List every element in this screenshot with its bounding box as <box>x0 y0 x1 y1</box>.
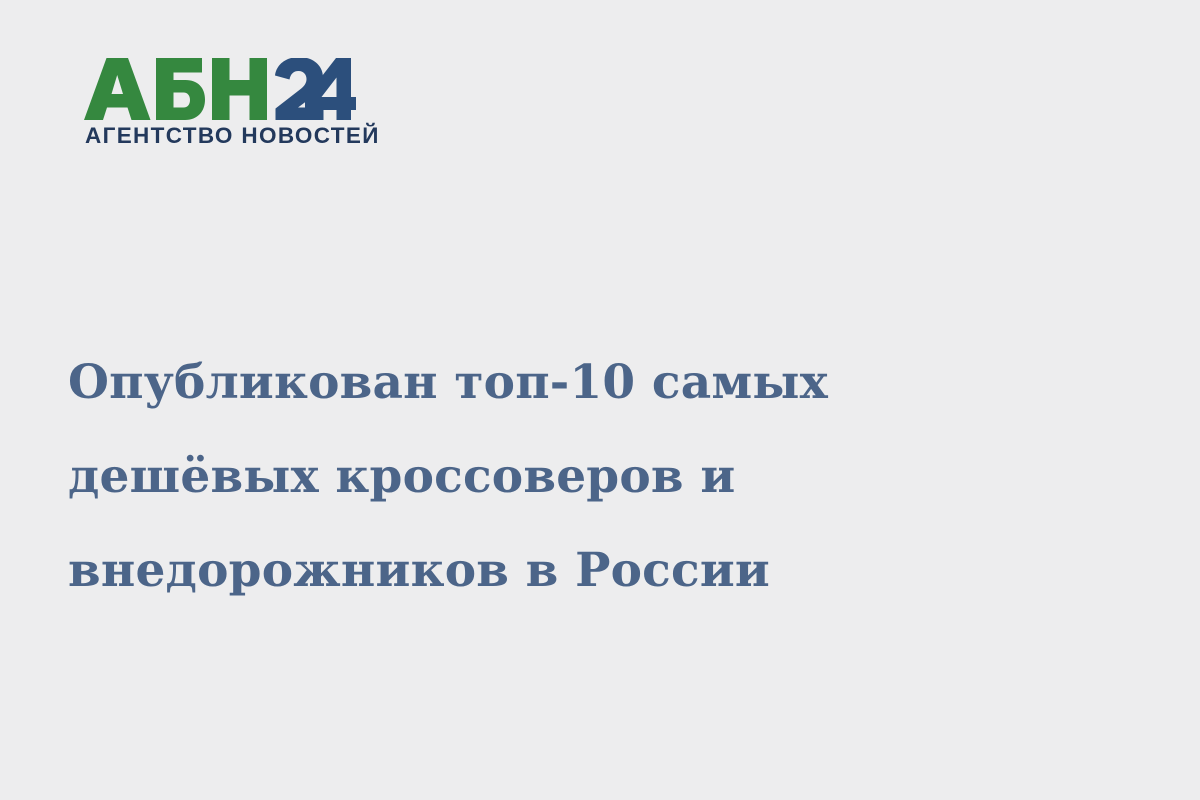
logo-wordmark-icon <box>84 58 356 120</box>
headline-line-1: Опубликован топ-10 самых <box>68 336 868 430</box>
abn24-logo: АГЕНТСТВО НОВОСТЕЙ <box>84 58 366 148</box>
headline: Опубликован топ-10 самых дешёвых кроссов… <box>68 336 868 618</box>
chart-bar-3 <box>1079 288 1145 713</box>
headline-line-2: дешёвых кроссоверов и <box>68 430 868 524</box>
news-card: АГЕНТСТВО НОВОСТЕЙ Опубликован топ-10 са… <box>0 0 1200 800</box>
logo-subtitle: АГЕНТСТВО НОВОСТЕЙ <box>85 125 366 148</box>
chart-bar-1 <box>911 152 977 626</box>
headline-line-3: внедорожников в России <box>68 524 868 618</box>
chart-bar-2 <box>995 232 1061 800</box>
